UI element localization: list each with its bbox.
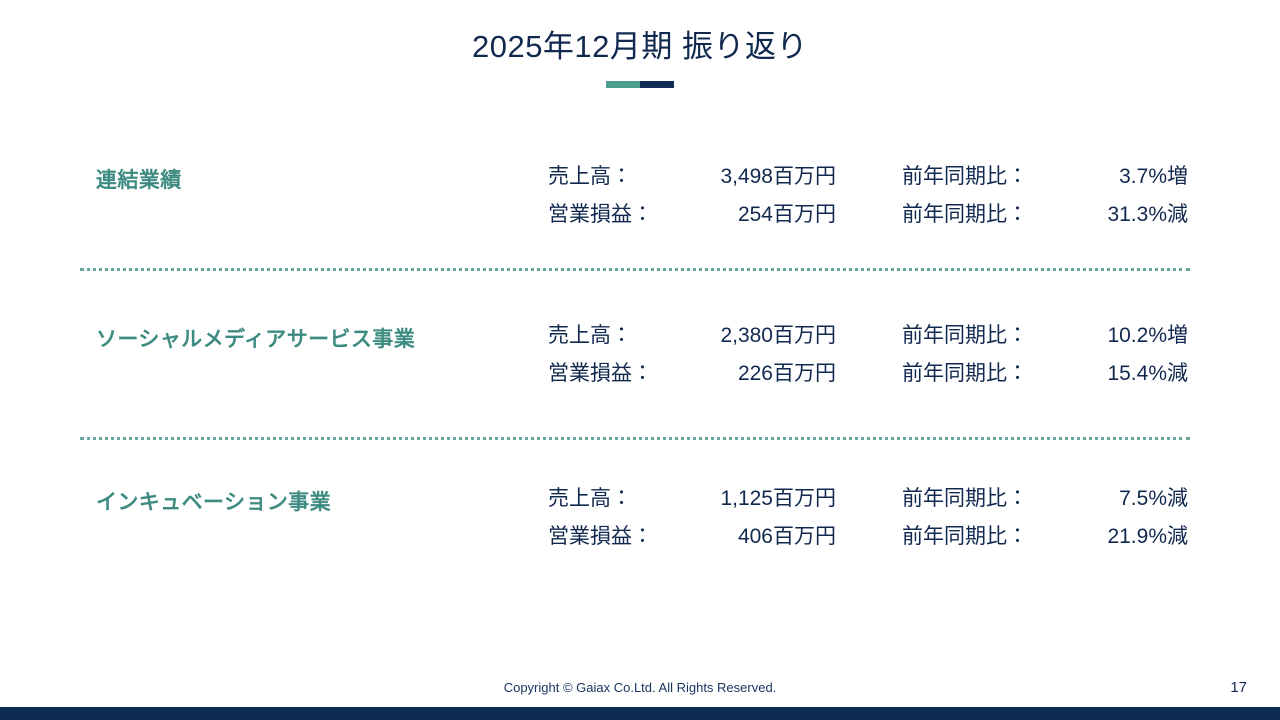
metric-compare-value: 31.3%減 [1050,198,1188,228]
page-number: 17 [1230,679,1247,696]
metric-label: 営業損益： [548,198,656,228]
metric-compare-value: 15.4%減 [1050,357,1188,387]
title-block: 2025年12月期 振り返り [0,28,1280,88]
segment-row-incubation: インキュベーション事業 売上高： 1,125百万円 前年同期比： 7.5%減 営… [80,436,1190,548]
segment-metrics: 売上高： 1,125百万円 前年同期比： 7.5%減 営業損益： 406百万円 … [548,482,1188,558]
metric-line-revenue: 売上高： 3,498百万円 前年同期比： 3.7%増 [548,160,1188,198]
segment-name: 連結業績 [96,164,182,194]
segment-metrics: 売上高： 3,498百万円 前年同期比： 3.7%増 営業損益： 254百万円 … [548,160,1188,236]
title-rule-teal-segment [606,81,640,88]
metric-compare-label: 前年同期比： [902,198,1050,228]
metric-value: 226百万円 [656,357,836,387]
metric-compare-value: 3.7%増 [1050,160,1188,190]
metric-compare-label: 前年同期比： [902,319,1050,349]
segment-name: ソーシャルメディアサービス事業 [96,323,415,353]
page-title: 2025年12月期 振り返り [0,28,1280,67]
title-rule-navy-segment [640,81,674,88]
metric-line-operating-income: 営業損益： 226百万円 前年同期比： 15.4%減 [548,357,1188,395]
title-underline-rule [606,81,674,88]
metric-compare-label: 前年同期比： [902,520,1050,550]
metric-value: 3,498百万円 [656,160,836,190]
segment-row-social-media-service: ソーシャルメディアサービス事業 売上高： 2,380百万円 前年同期比： 10.… [80,265,1190,433]
metric-compare-value: 10.2%増 [1050,319,1188,349]
segment-list: 連結業績 売上高： 3,498百万円 前年同期比： 3.7%増 営業損益： 25… [80,150,1190,548]
slide-canvas: 2025年12月期 振り返り 連結業績 売上高： 3,498百万円 前年同期比：… [0,0,1280,720]
metric-label: 売上高： [548,319,656,349]
metric-compare-label: 前年同期比： [902,357,1050,387]
metric-label: 売上高： [548,482,656,512]
metric-compare-label: 前年同期比： [902,160,1050,190]
metric-line-operating-income: 営業損益： 406百万円 前年同期比： 21.9%減 [548,520,1188,558]
metric-line-operating-income: 営業損益： 254百万円 前年同期比： 31.3%減 [548,198,1188,236]
metric-label: 売上高： [548,160,656,190]
metric-label: 営業損益： [548,357,656,387]
metric-value: 2,380百万円 [656,319,836,349]
metric-line-revenue: 売上高： 1,125百万円 前年同期比： 7.5%減 [548,482,1188,520]
footer-accent-bar [0,707,1280,720]
metric-value: 254百万円 [656,198,836,228]
footer-copyright: Copyright © Gaiax Co.Ltd. All Rights Res… [0,680,1280,695]
metric-compare-value: 21.9%減 [1050,520,1188,550]
metric-value: 1,125百万円 [656,482,836,512]
segment-name: インキュベーション事業 [96,486,331,516]
segment-row-consolidated: 連結業績 売上高： 3,498百万円 前年同期比： 3.7%増 営業損益： 25… [80,150,1190,262]
metric-label: 営業損益： [548,520,656,550]
segment-metrics: 売上高： 2,380百万円 前年同期比： 10.2%増 営業損益： 226百万円… [548,319,1188,395]
metric-compare-value: 7.5%減 [1050,482,1188,512]
metric-compare-label: 前年同期比： [902,482,1050,512]
metric-line-revenue: 売上高： 2,380百万円 前年同期比： 10.2%増 [548,319,1188,357]
metric-value: 406百万円 [656,520,836,550]
